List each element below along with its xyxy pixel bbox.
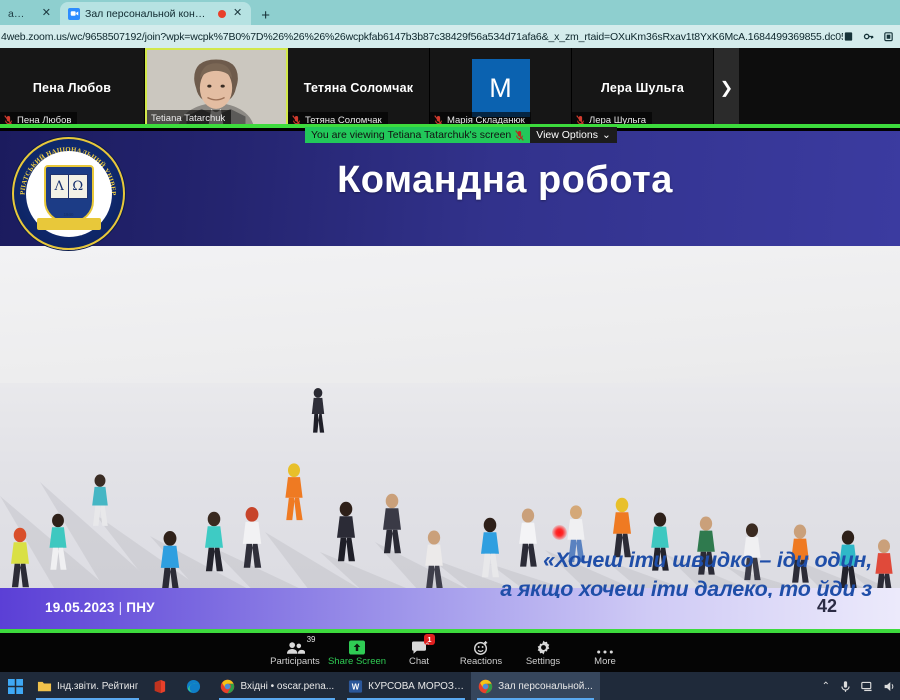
- taskbar-item-3[interactable]: [179, 672, 213, 700]
- tab-title: a@pnu.ed: [8, 8, 35, 20]
- participant-tile-3[interactable]: Тетяна Соломчак Тетяна Соломчак: [288, 48, 430, 128]
- taskbar-item-label: Інд.звіти. Рейтинг: [57, 681, 138, 692]
- taskbar-item-4[interactable]: Вхідні • oscar.pena...: [213, 672, 341, 700]
- svg-text:W: W: [352, 682, 360, 691]
- participant-center-name: Лера Шульга: [601, 81, 684, 95]
- participant-name: Tetiana Tatarchuk: [151, 113, 225, 124]
- edge-icon: [186, 679, 201, 694]
- view-options-label: View Options: [536, 129, 598, 141]
- chat-label: Chat: [409, 656, 429, 667]
- participants-label: Participants: [270, 656, 320, 667]
- extensions-icon[interactable]: [883, 31, 894, 42]
- taskbar-item-6[interactable]: Зал персональной...: [471, 672, 600, 700]
- reactions-icon: [473, 638, 489, 655]
- chevron-down-icon: ⌄: [602, 129, 611, 141]
- screen: a@pnu.ed ✕ Зал персональной конфере ✕ + …: [0, 0, 900, 700]
- taskbar-item-1[interactable]: Інд.звіти. Рейтинг: [30, 672, 145, 700]
- slide-quote: «Хочеш іти швидко – іди один, а якщо хоч…: [402, 546, 872, 598]
- recording-indicator-icon: [218, 10, 226, 18]
- slide-footer-meta: 19.05.2023|ПНУ: [45, 600, 155, 615]
- view-options-button[interactable]: View Options ⌄: [530, 127, 617, 143]
- share-screen-icon: [349, 638, 365, 655]
- close-icon[interactable]: ✕: [231, 7, 244, 20]
- chevron-up-icon[interactable]: ⌃: [423, 641, 431, 652]
- more-label: More: [594, 656, 616, 667]
- gear-icon: [536, 638, 551, 655]
- screen-share-banner: You are viewing Tetiana Tatarchuk's scre…: [305, 127, 617, 143]
- settings-button[interactable]: Settings: [512, 633, 574, 672]
- slide-date: 19.05.2023: [45, 600, 115, 615]
- viewing-status-text: You are viewing Tetiana Tatarchuk's scre…: [311, 129, 511, 141]
- next-participants-button[interactable]: ❯: [714, 48, 739, 128]
- participant-center-name: Тетяна Соломчак: [304, 81, 414, 95]
- logo-ribbon: [37, 218, 101, 230]
- more-button[interactable]: More: [574, 633, 636, 672]
- participant-video-strip: Пена Любов Пена Любов: [0, 48, 900, 128]
- chat-button[interactable]: 1 ⌃ Chat: [388, 633, 450, 672]
- viewing-status: You are viewing Tetiana Tatarchuk's scre…: [305, 127, 530, 143]
- settings-label: Settings: [526, 656, 560, 667]
- reactions-button[interactable]: Reactions: [450, 633, 512, 672]
- slide-org: ПНУ: [126, 600, 154, 615]
- volume-icon[interactable]: [883, 680, 896, 693]
- slide-header: Командна робота: [0, 131, 900, 246]
- quote-line-1: «Хочеш іти швидко – іди один,: [402, 546, 872, 575]
- participants-count: 39: [307, 635, 316, 644]
- share-screen-button[interactable]: Share Screen: [326, 633, 388, 672]
- reactions-label: Reactions: [460, 656, 502, 667]
- taskbar-item-5[interactable]: W КУРСОВА МОРОЗ ...: [341, 672, 471, 700]
- participant-center-name: Пена Любов: [33, 81, 111, 95]
- browser-chrome: a@pnu.ed ✕ Зал персональной конфере ✕ + …: [0, 0, 900, 48]
- browser-address-bar[interactable]: 4web.zoom.us/wc/9658507192/join?wpk=wcpk…: [0, 25, 900, 48]
- participant-tile-2[interactable]: Tetiana Tatarchuk: [145, 48, 288, 128]
- browser-tab-2[interactable]: Зал персональной конфере ✕: [60, 2, 251, 25]
- logo-alpha: Λ: [51, 175, 70, 198]
- close-icon[interactable]: ✕: [40, 7, 53, 20]
- browser-tab-1[interactable]: a@pnu.ed ✕: [0, 2, 60, 25]
- logo-omega: Ω: [69, 175, 87, 198]
- logo-shield: Λ Ω 1940: [44, 165, 94, 223]
- office-icon: [152, 679, 167, 694]
- slide-page-number: 42: [817, 596, 837, 617]
- folder-icon: [37, 679, 52, 694]
- network-icon[interactable]: [861, 680, 874, 693]
- chrome-icon: [220, 679, 235, 694]
- participant-tile-5[interactable]: Лера Шульга Лера Шульга: [572, 48, 714, 128]
- logo-year: 1940: [63, 212, 73, 217]
- logo-emblem: Λ Ω 1940: [26, 151, 112, 237]
- taskbar-item-label: Зал персональной...: [498, 681, 593, 692]
- zoom-favicon-icon: [68, 8, 80, 20]
- browser-tabstrip: a@pnu.ed ✕ Зал персональной конфере ✕ +: [0, 0, 900, 25]
- participant-tile-4[interactable]: М Марія Складанюк: [430, 48, 572, 128]
- chrome-icon: [478, 679, 493, 694]
- taskbar-item-label: КУРСОВА МОРОЗ ...: [368, 681, 464, 692]
- word-icon: W: [348, 679, 363, 694]
- footer-separator: |: [119, 600, 123, 615]
- zoom-meeting-toolbar: 39 Participants Share Screen 1 ⌃ Chat Re…: [0, 633, 900, 672]
- shared-screen-content: Командна робота ПРИКАРПАТСЬКИЙ НАЦІОНАЛЬ…: [0, 131, 900, 633]
- university-logo: ПРИКАРПАТСЬКИЙ НАЦІОНАЛЬНИЙ УНІВЕРСИТЕТ …: [12, 137, 125, 250]
- participant-tile-1[interactable]: Пена Любов Пена Любов: [0, 48, 145, 128]
- microphone-icon[interactable]: [839, 680, 852, 693]
- reader-icon[interactable]: [843, 31, 854, 42]
- slide-photo: «Хочеш іти швидко – іди один, а якщо хоч…: [0, 246, 900, 598]
- tab-title: Зал персональной конфере: [85, 8, 213, 20]
- taskbar-item-2[interactable]: [145, 672, 179, 700]
- new-tab-button[interactable]: +: [251, 8, 280, 25]
- windows-taskbar: Інд.звіти. Рейтинг Вхідні • oscar.pena..…: [0, 672, 900, 700]
- share-screen-label: Share Screen: [328, 656, 386, 667]
- key-icon[interactable]: [863, 31, 874, 42]
- taskbar-item-label: Вхідні • oscar.pena...: [240, 681, 334, 692]
- avatar: М: [472, 59, 530, 117]
- participants-button[interactable]: 39 Participants: [264, 633, 326, 672]
- page-title: Командна робота: [0, 159, 900, 202]
- address-bar-icons: [843, 31, 900, 42]
- url-text: 4web.zoom.us/wc/9658507192/join?wpk=wcpk…: [0, 31, 843, 43]
- windows-start-icon[interactable]: [0, 672, 30, 700]
- ellipsis-icon: [596, 638, 614, 655]
- logo-book-icon: Λ Ω: [50, 174, 88, 199]
- system-tray: ⌃: [822, 680, 900, 693]
- laser-pointer-icon: [552, 525, 567, 540]
- people-icon: 39: [286, 638, 305, 655]
- mic-muted-icon: [515, 130, 524, 141]
- show-hidden-icons-chevron[interactable]: ⌃: [822, 681, 830, 692]
- chat-icon: 1 ⌃: [411, 638, 427, 655]
- quote-line-2: а якщо хочеш іти далеко, то йди з: [402, 575, 872, 598]
